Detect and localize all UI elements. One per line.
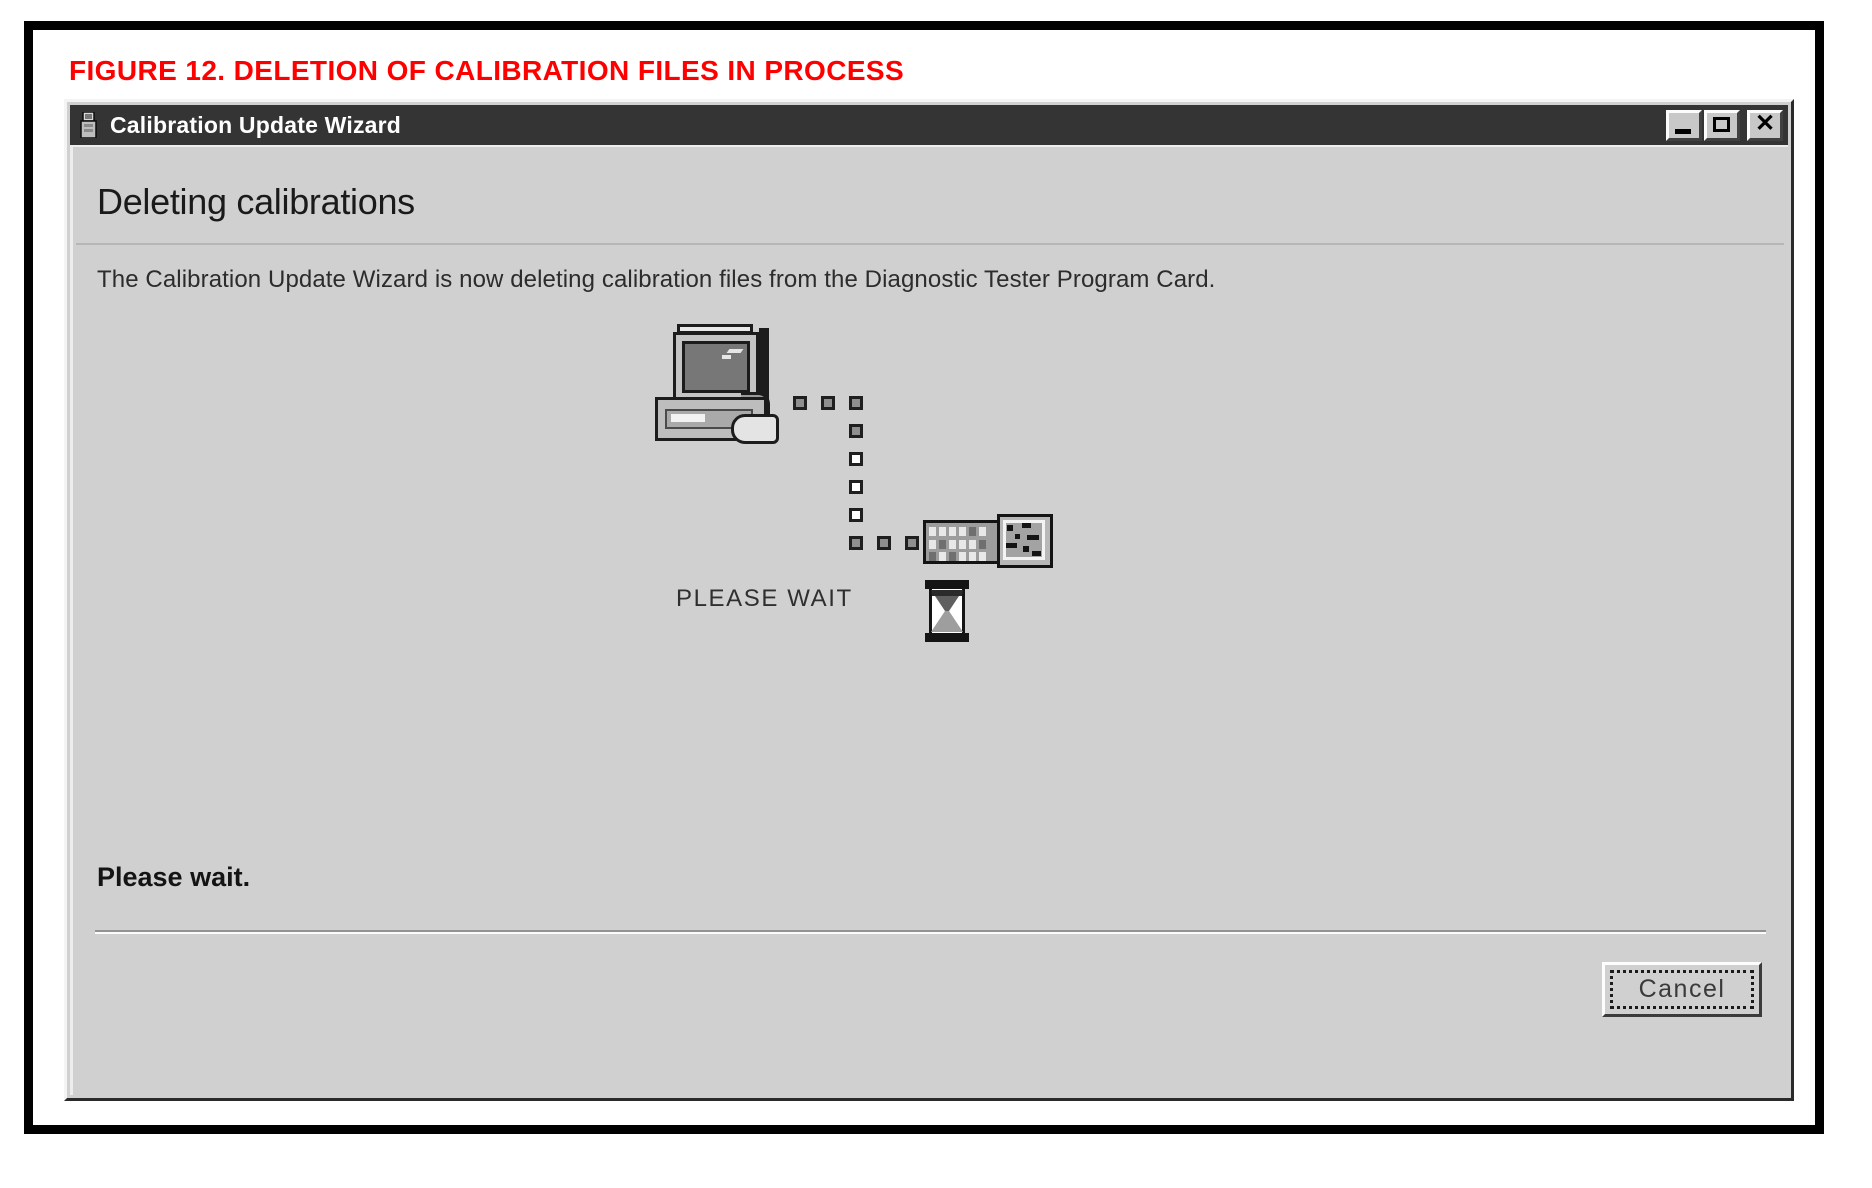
transfer-dot [849,424,863,438]
cancel-button-label: Cancel [1639,975,1726,1004]
diagnostic-tester-icon [923,514,1055,570]
figure-frame: FIGURE 12. DELETION OF CALIBRATION FILES… [24,21,1824,1134]
description-text: The Calibration Update Wizard is now del… [97,266,1215,294]
figure-caption: FIGURE 12. DELETION OF CALIBRATION FILES… [69,55,904,87]
window-title: Calibration Update Wizard [110,112,1666,139]
close-button[interactable]: ✕ [1747,110,1783,141]
title-bar[interactable]: Calibration Update Wizard ✕ [70,105,1788,145]
button-bar-divider [95,930,1766,934]
heading-divider [76,243,1784,245]
desktop-computer-icon [653,322,783,447]
hourglass-icon [925,580,969,642]
transfer-dot [793,396,807,410]
transfer-dot [877,536,891,550]
transfer-illustration: PLEASE WAIT [613,322,1113,672]
cancel-button[interactable]: Cancel [1602,962,1762,1017]
please-wait-label: PLEASE WAIT [676,585,853,613]
page-title: Deleting calibrations [97,181,415,223]
transfer-dot [849,452,863,466]
transfer-dot [821,396,835,410]
maximize-button[interactable] [1704,110,1740,141]
transfer-dot [849,480,863,494]
wizard-window: Calibration Update Wizard ✕ Deleting cal… [64,99,1794,1101]
transfer-dot [905,536,919,550]
transfer-dot [849,536,863,550]
close-icon: ✕ [1750,110,1780,138]
transfer-dot [849,508,863,522]
handheld-tester-icon [80,112,97,138]
minimize-button[interactable] [1666,110,1702,141]
dialog-client-area: Deleting calibrations The Calibration Up… [70,145,1788,1095]
transfer-dot [849,396,863,410]
status-message: Please wait. [97,862,250,893]
